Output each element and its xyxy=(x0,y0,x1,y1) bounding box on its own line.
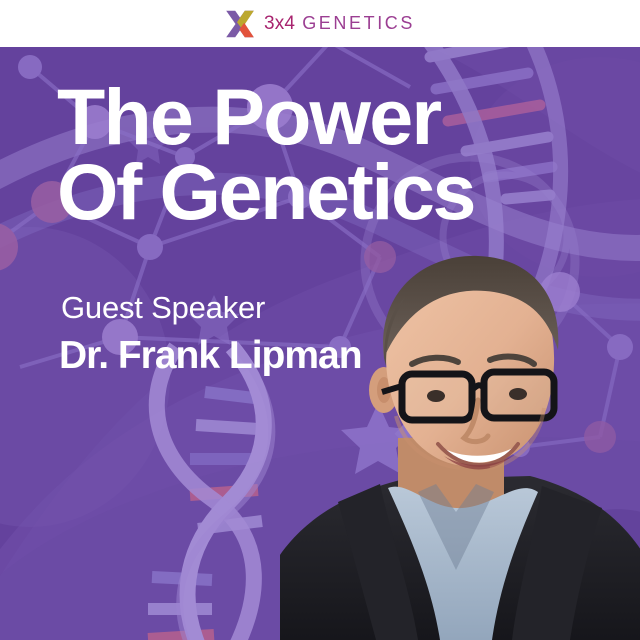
glasses xyxy=(382,372,554,420)
speaker-portrait xyxy=(280,240,640,640)
brand-logo[interactable]: 3x4 GENETICS xyxy=(225,9,415,39)
brand-name: GENETICS xyxy=(302,14,415,32)
brand-wordmark: 3x4 GENETICS xyxy=(264,14,415,33)
brand-prefix: 3x4 xyxy=(264,14,295,33)
podcast-cover-poster: The Power Of Genetics Guest Speaker Dr. … xyxy=(0,0,640,640)
x-logo-icon xyxy=(225,9,255,39)
brand-header: 3x4 GENETICS xyxy=(0,0,640,47)
